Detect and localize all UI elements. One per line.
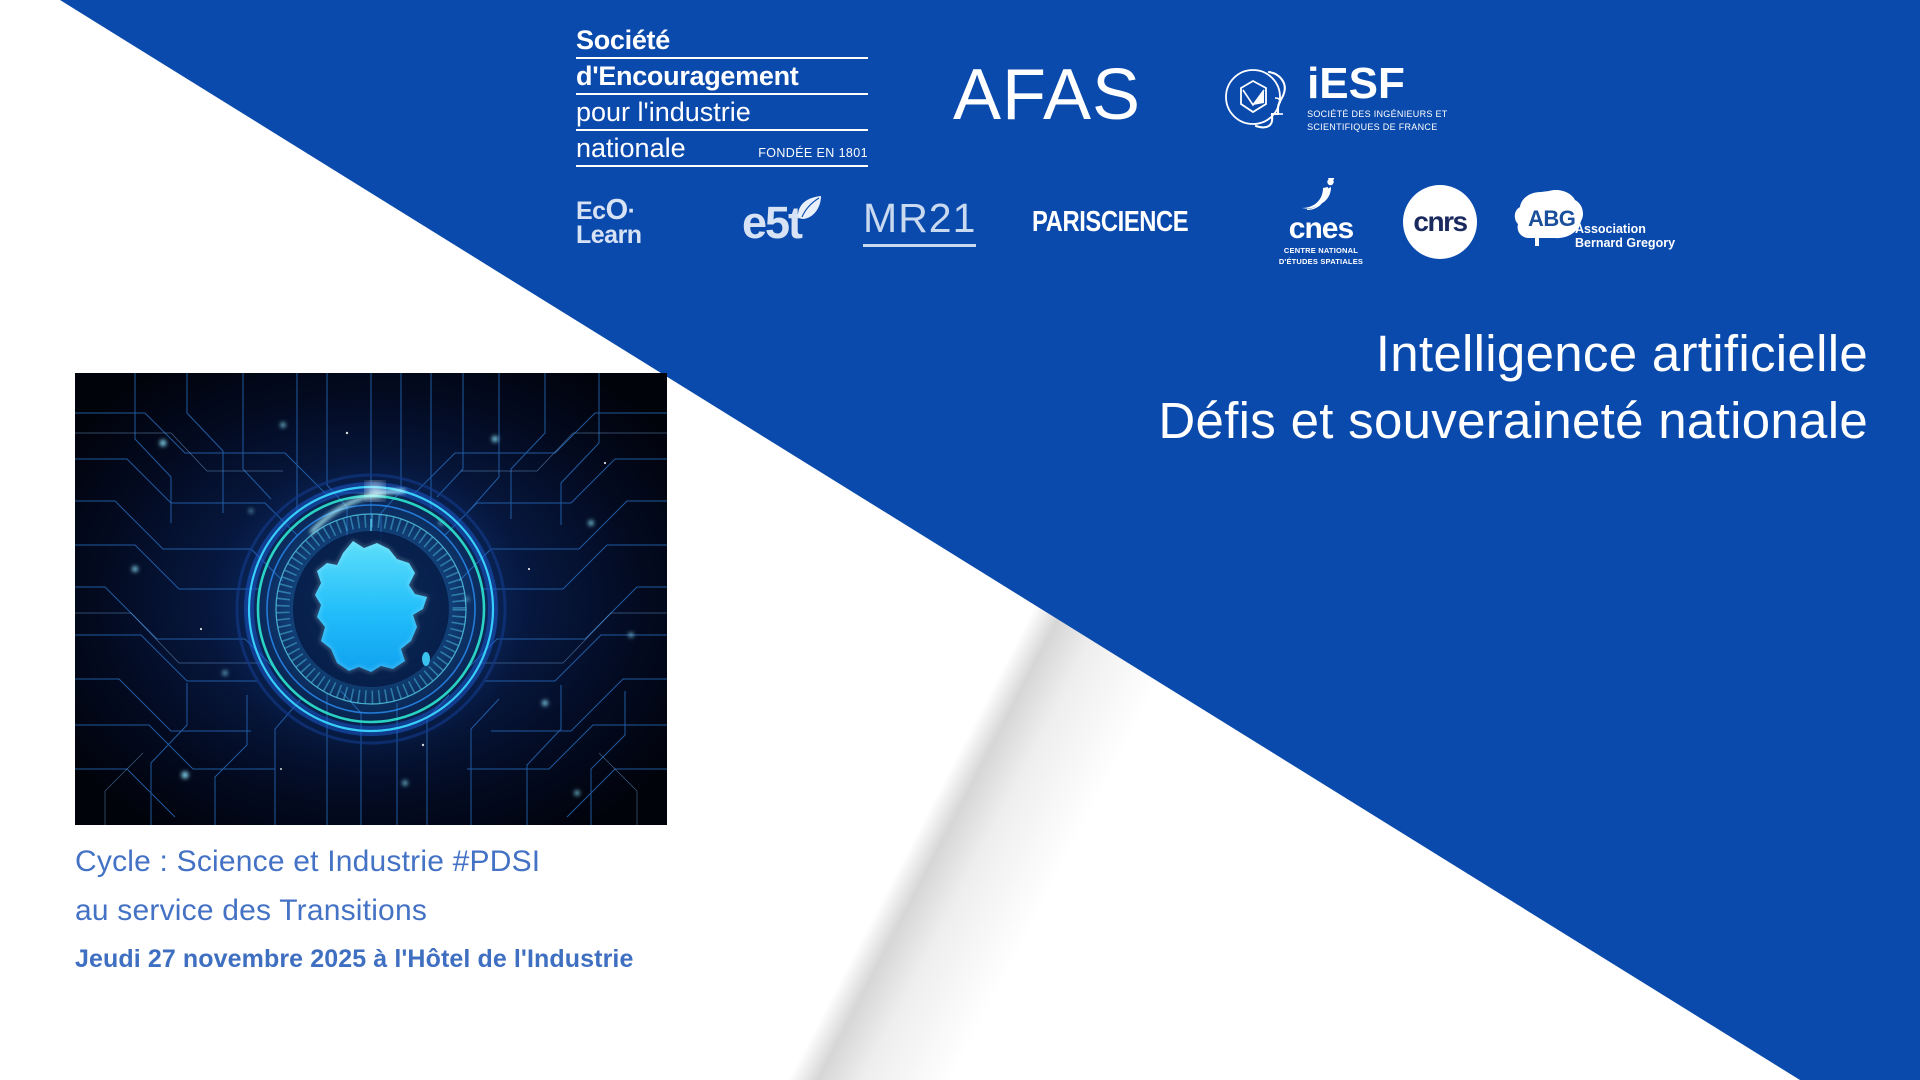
iesf-subtitle-line-1: Société des Ingénieurs et <box>1307 110 1448 119</box>
iesf-wordmark: iESF <box>1307 62 1448 106</box>
sein-line-4-text: nationale <box>576 135 686 162</box>
logo-iesf[interactable]: iESF Société des Ingénieurs et Scientifi… <box>1223 60 1448 134</box>
cnes-subtitle-line-1: CENTRE NATIONAL <box>1269 246 1373 255</box>
leaf-icon <box>795 184 823 212</box>
logo-abg[interactable]: ABG Association Bernard Gregory <box>1511 186 1649 258</box>
iesf-subtitle-line-2: Scientifiques de France <box>1307 123 1448 132</box>
e5t-wordmark: e5t <box>742 197 801 248</box>
poster-canvas: Société d'Encouragement pour l'industrie… <box>0 0 1920 1080</box>
partner-logo-strip: Société d'Encouragement pour l'industrie… <box>560 22 1900 262</box>
abg-wordmark: ABG <box>1528 206 1575 232</box>
mr21-wordmark: MR21 <box>863 195 976 241</box>
iesf-face-hexagon-icon <box>1223 60 1297 134</box>
abg-subtitle-line-1: Association <box>1575 222 1646 236</box>
sein-line-1: Société <box>576 27 868 59</box>
sein-line-3: pour l'industrie <box>576 99 868 131</box>
logo-mr21[interactable]: MR21 <box>863 197 976 246</box>
iesf-text-block: iESF Société des Ingénieurs et Scientifi… <box>1307 62 1448 132</box>
logo-row-bottom: EcO· Learn e5t MR21 PARISCI <box>576 182 1886 262</box>
event-caption: Cycle : Science et Industrie #PDSI au se… <box>75 838 1015 979</box>
pariscience-wordmark: PARISCIENCE <box>1032 206 1188 238</box>
sein-line-2: d'Encouragement <box>576 63 868 95</box>
logo-cnes[interactable]: cnes CENTRE NATIONAL D'ÉTUDES SPATIALES <box>1269 178 1373 267</box>
caption-line-1: Cycle : Science et Industrie #PDSI <box>75 838 1015 887</box>
logo-row-top: Société d'Encouragement pour l'industrie… <box>576 32 1886 162</box>
afas-wordmark: AFAS <box>953 55 1141 135</box>
event-title: Intelligence artificielle Défis et souve… <box>1158 320 1868 455</box>
event-title-line-2: Défis et souveraineté nationale <box>1158 387 1868 454</box>
caption-date: Jeudi 27 novembre 2025 à l'Hôtel de l'In… <box>75 940 1015 979</box>
ecolearn-line-2: Learn <box>576 221 642 249</box>
logo-cnrs[interactable]: cnrs <box>1403 185 1477 259</box>
abg-subtitle-line-2: Bernard Gregory <box>1575 236 1675 250</box>
logo-pariscience[interactable]: PARISCIENCE <box>1032 206 1188 239</box>
caption-line-2: au service des Transitions <box>75 887 1015 936</box>
event-title-line-1: Intelligence artificielle <box>1158 320 1868 387</box>
satellite-dish-icon <box>1301 178 1341 212</box>
cnrs-wordmark: cnrs <box>1413 206 1466 238</box>
sein-line-4: nationale FONDÉE EN 1801 <box>576 135 868 167</box>
logo-e5t[interactable]: e5t <box>742 200 801 245</box>
abg-subtitle: Association Bernard Gregory <box>1575 222 1675 251</box>
logo-ecolearn[interactable]: EcO· Learn <box>576 197 694 247</box>
cnes-subtitle-line-2: D'ÉTUDES SPATIALES <box>1269 257 1373 266</box>
logo-sein[interactable]: Société d'Encouragement pour l'industrie… <box>576 27 868 167</box>
sein-founded-text: FONDÉE EN 1801 <box>758 147 868 160</box>
cnes-wordmark: cnes <box>1269 214 1373 244</box>
hero-image-france-circuit <box>75 373 667 825</box>
logo-afas[interactable]: AFAS <box>953 54 1141 136</box>
